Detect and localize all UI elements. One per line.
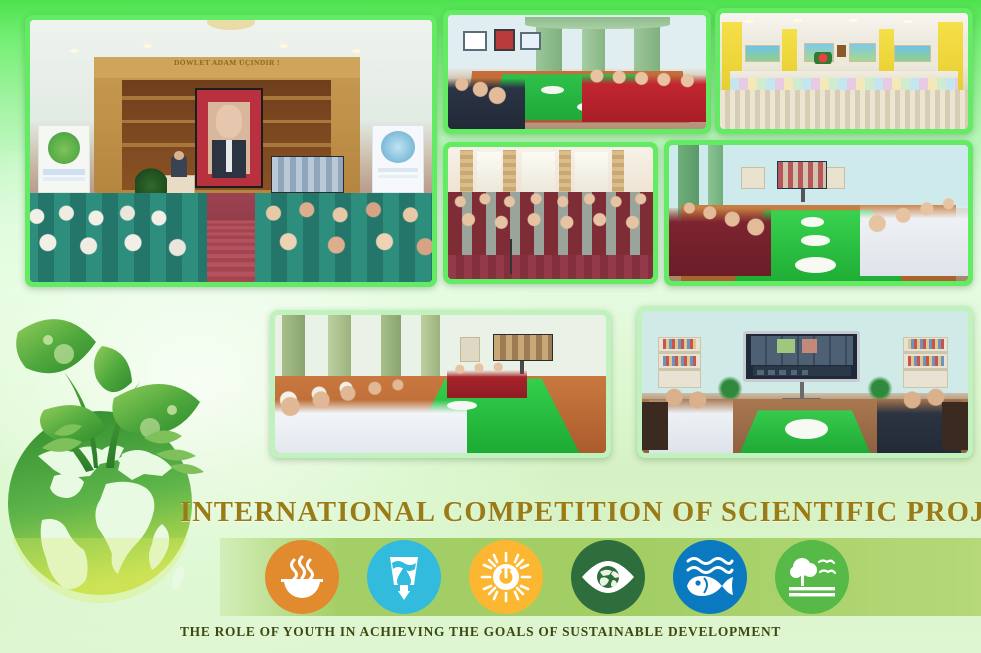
photo-main-conference-hall: DÖWLET ADAM ÜÇINDIR ! xyxy=(25,15,437,287)
page-title: INTERNATIONAL COMPETITION OF SCIENTIFIC … xyxy=(180,497,970,537)
green-globe-sprout-logo xyxy=(2,288,238,648)
page-tagline: THE ROLE OF YOUTH IN ACHIEVING THE GOALS… xyxy=(180,624,720,640)
photo-videoconference-room xyxy=(637,306,973,458)
zero-hunger-icon xyxy=(265,540,339,614)
photo-exhibition-hall-yellow xyxy=(715,8,973,134)
photo-auditorium-maroon-uniforms xyxy=(443,142,658,284)
clean-water-icon xyxy=(367,540,441,614)
wall-banner-text: DÖWLET ADAM ÜÇINDIR ! xyxy=(94,59,359,77)
life-on-land-icon xyxy=(775,540,849,614)
photo-students-white-shirts-table xyxy=(270,310,611,458)
climate-action-icon xyxy=(571,540,645,614)
sdg-icon-row xyxy=(265,534,981,620)
poster-canvas: DÖWLET ADAM ÜÇINDIR ! xyxy=(0,0,981,653)
photo-meeting-screen-green-table xyxy=(664,140,973,286)
photo-roundtable-red-uniforms xyxy=(443,10,711,134)
life-below-water-icon xyxy=(673,540,747,614)
affordable-energy-icon xyxy=(469,540,543,614)
